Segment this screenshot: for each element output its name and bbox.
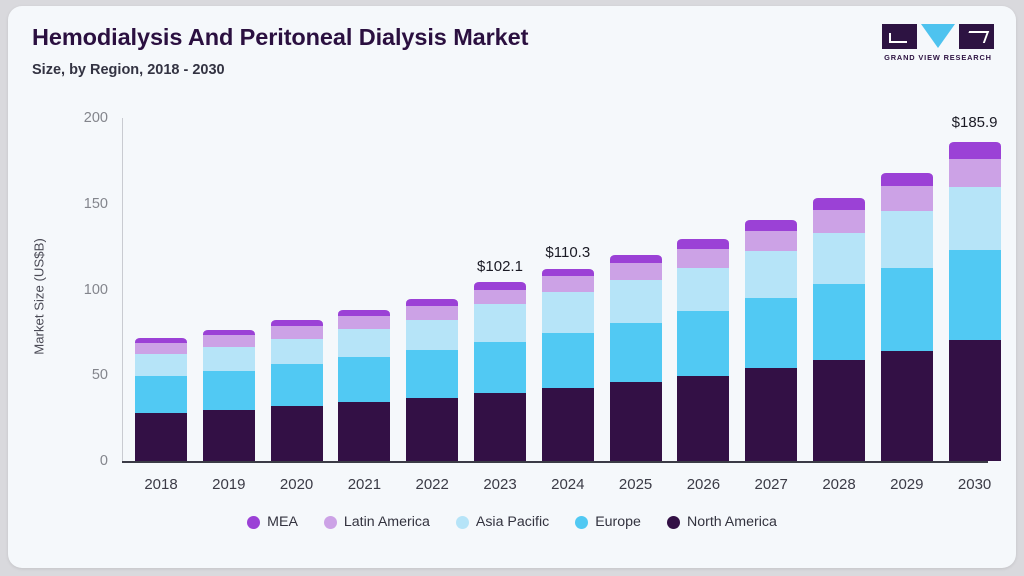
bar-segment[interactable] [745, 250, 797, 298]
bar-group[interactable] [881, 176, 933, 461]
y-axis-tick-label: 50 [54, 367, 108, 383]
legend-swatch-icon [247, 516, 260, 529]
bar-segment[interactable] [542, 388, 594, 461]
bar-group[interactable] [677, 243, 729, 461]
bar-segment[interactable] [745, 230, 797, 252]
chart-card: Hemodialysis And Peritoneal Dialysis Mar… [8, 6, 1016, 568]
legend-label: North America [687, 514, 777, 530]
bar-value-label: $185.9 [915, 114, 1016, 131]
legend-swatch-icon [324, 516, 337, 529]
bar-group[interactable] [135, 338, 187, 461]
bar-segment[interactable] [338, 315, 390, 329]
bar-segment[interactable] [949, 186, 1001, 250]
legend-item[interactable]: Asia Pacific [456, 514, 549, 530]
bar-segment[interactable] [745, 297, 797, 368]
bar-segment[interactable] [542, 268, 594, 277]
bar-segment[interactable] [474, 289, 526, 305]
bar-segment[interactable] [271, 319, 323, 326]
y-axis-tick-label: 0 [54, 453, 108, 469]
bar-segment[interactable] [745, 368, 797, 461]
bar-segment[interactable] [271, 338, 323, 365]
bar-segment[interactable] [813, 209, 865, 233]
bar-segment[interactable] [203, 346, 255, 371]
bar-group[interactable] [406, 299, 458, 461]
bar-segment[interactable] [406, 398, 458, 461]
bar-segment[interactable] [135, 353, 187, 376]
bar-group[interactable] [271, 320, 323, 461]
bar-group[interactable] [949, 142, 1001, 461]
bar-segment[interactable] [745, 219, 797, 231]
bar-group[interactable] [474, 286, 526, 461]
bar-segment[interactable] [881, 351, 933, 461]
bar-segment[interactable] [135, 337, 187, 343]
bar-segment[interactable] [338, 309, 390, 316]
bar-segment[interactable] [203, 410, 255, 461]
bar-segment[interactable] [949, 141, 1001, 159]
bar-group[interactable] [203, 330, 255, 461]
bar-segment[interactable] [813, 360, 865, 461]
bar-segment[interactable] [542, 291, 594, 332]
bar-segment[interactable] [881, 172, 933, 186]
bar-segment[interactable] [949, 340, 1001, 461]
bar-group[interactable] [745, 223, 797, 461]
bar-group[interactable] [610, 258, 662, 461]
bar-segment[interactable] [881, 267, 933, 351]
bar-segment[interactable] [271, 406, 323, 461]
bar-group[interactable] [542, 272, 594, 461]
bar-segment[interactable] [474, 281, 526, 289]
bar-segment[interactable] [949, 158, 1001, 187]
bar-segment[interactable] [135, 375, 187, 413]
bar-segment[interactable] [338, 356, 390, 402]
bar-segment[interactable] [271, 325, 323, 338]
legend-swatch-icon [456, 516, 469, 529]
bar-segment[interactable] [610, 262, 662, 280]
bar-segment[interactable] [474, 393, 526, 461]
legend-label: Asia Pacific [476, 514, 549, 530]
y-axis-tick-label: 150 [54, 196, 108, 212]
bar-chart-plot: Market Size (US$B) 050100150200 $102.1$1… [8, 6, 1016, 568]
bar-segment[interactable] [610, 279, 662, 323]
bar-segment[interactable] [677, 310, 729, 375]
bar-segment[interactable] [881, 210, 933, 268]
bar-segment[interactable] [813, 232, 865, 285]
bar-group[interactable] [813, 202, 865, 461]
bar-segment[interactable] [135, 342, 187, 354]
bar-segment[interactable] [813, 197, 865, 210]
bar-segment[interactable] [677, 267, 729, 312]
legend-item[interactable]: Latin America [324, 514, 430, 530]
bar-segment[interactable] [338, 328, 390, 357]
legend-label: MEA [267, 514, 298, 530]
bar-segment[interactable] [406, 349, 458, 398]
bar-segment[interactable] [542, 275, 594, 292]
bar-segment[interactable] [610, 382, 662, 461]
x-axis-tick-label: 2030 [915, 476, 1016, 493]
y-axis-title: Market Size (US$B) [32, 187, 47, 407]
bar-segment[interactable] [813, 283, 865, 360]
y-axis-line [122, 118, 123, 462]
bar-segment[interactable] [203, 329, 255, 335]
bar-segment[interactable] [542, 332, 594, 388]
bar-segment[interactable] [406, 305, 458, 320]
bar-segment[interactable] [677, 376, 729, 461]
legend-swatch-icon [575, 516, 588, 529]
legend-item[interactable]: Europe [575, 514, 641, 530]
legend-item[interactable]: MEA [247, 514, 298, 530]
bar-segment[interactable] [135, 413, 187, 461]
bar-segment[interactable] [203, 334, 255, 346]
bar-segment[interactable] [677, 248, 729, 268]
legend-swatch-icon [667, 516, 680, 529]
legend-label: Europe [595, 514, 641, 530]
bar-group[interactable] [338, 310, 390, 461]
bar-segment[interactable] [203, 370, 255, 410]
bar-segment[interactable] [610, 322, 662, 382]
bar-segment[interactable] [881, 185, 933, 211]
bar-segment[interactable] [271, 363, 323, 406]
legend-label: Latin America [344, 514, 430, 530]
legend-item[interactable]: North America [667, 514, 777, 530]
x-axis-line [122, 461, 988, 463]
y-axis-tick-label: 100 [54, 282, 108, 298]
bar-segment[interactable] [406, 319, 458, 351]
bar-segment[interactable] [677, 238, 729, 249]
bar-segment[interactable] [406, 298, 458, 306]
bar-segment[interactable] [474, 341, 526, 393]
y-axis-tick-label: 200 [54, 110, 108, 126]
chart-legend: MEALatin AmericaAsia PacificEuropeNorth … [8, 514, 1016, 530]
bar-segment[interactable] [949, 249, 1001, 340]
bar-segment[interactable] [610, 254, 662, 264]
bar-segment[interactable] [338, 402, 390, 461]
bar-segment[interactable] [474, 303, 526, 342]
